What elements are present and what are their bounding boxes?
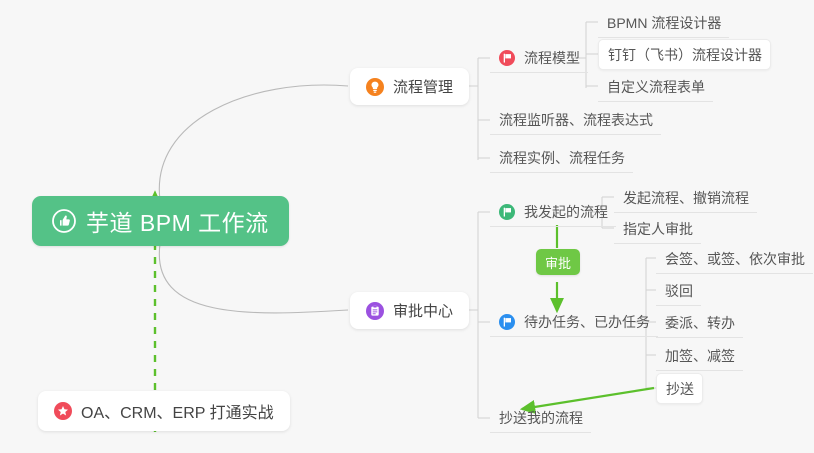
flag-icon	[499, 50, 515, 66]
flag-icon	[499, 314, 515, 330]
branch-label: 审批中心	[393, 300, 453, 321]
clipboard-icon	[366, 302, 384, 320]
node-label: 钉钉（飞书）流程设计器	[608, 45, 762, 65]
node-countersign[interactable]: 会签、或签、依次审批	[656, 244, 813, 274]
node-custom-process-form[interactable]: 自定义流程表单	[598, 72, 713, 102]
lightbulb-icon	[366, 78, 384, 96]
node-label: 自定义流程表单	[607, 77, 705, 97]
branch-approval-center[interactable]: 审批中心	[350, 292, 469, 329]
node-delegate-transfer[interactable]: 委派、转办	[656, 308, 743, 338]
node-label: 抄送	[666, 379, 694, 399]
mindmap-canvas: 芋道 BPM 工作流 流程管理 流程模型 BPMN 流程设计器 钉钉（飞书）流	[0, 0, 814, 453]
edge-root-to-process-management	[159, 85, 348, 200]
node-label: 待办任务、已办任务	[524, 312, 650, 332]
flag-icon	[499, 204, 515, 220]
edge-root-to-approval-center	[159, 244, 348, 313]
approval-pill: 审批	[536, 249, 580, 275]
node-designated-approver[interactable]: 指定人审批	[614, 214, 701, 244]
node-carbon-copy[interactable]: 抄送	[656, 373, 703, 404]
branch-label: 流程管理	[393, 76, 453, 97]
node-label: 流程模型	[524, 48, 580, 68]
node-label: 加签、减签	[665, 346, 735, 366]
node-process-listener-expression[interactable]: 流程监听器、流程表达式	[490, 105, 661, 135]
node-label: BPMN 流程设计器	[607, 13, 721, 33]
node-label: 驳回	[665, 281, 693, 301]
integration-card-label: OA、CRM、ERP 打通实战	[81, 399, 274, 423]
node-process-model[interactable]: 流程模型	[490, 43, 588, 73]
node-label: 发起流程、撤销流程	[623, 188, 749, 208]
node-todo-done-tasks[interactable]: 待办任务、已办任务	[490, 307, 658, 337]
node-dingtalk-feishu-designer[interactable]: 钉钉（飞书）流程设计器	[598, 39, 771, 70]
node-process-instance-task[interactable]: 流程实例、流程任务	[490, 143, 633, 173]
node-label: 我发起的流程	[524, 202, 608, 222]
node-label: 流程监听器、流程表达式	[499, 110, 653, 130]
node-add-remove-sign[interactable]: 加签、减签	[656, 341, 743, 371]
node-label: 抄送我的流程	[499, 408, 583, 428]
approval-pill-label: 审批	[545, 253, 571, 272]
node-label: 会签、或签、依次审批	[665, 249, 805, 269]
root-node[interactable]: 芋道 BPM 工作流	[32, 196, 289, 246]
branch-process-management[interactable]: 流程管理	[350, 68, 469, 105]
node-my-initiated-process[interactable]: 我发起的流程	[490, 197, 616, 227]
node-label: 指定人审批	[623, 219, 693, 239]
root-label: 芋道 BPM 工作流	[86, 204, 269, 238]
star-icon	[54, 402, 72, 420]
node-label: 流程实例、流程任务	[499, 148, 625, 168]
thumbs-up-icon	[52, 209, 76, 233]
node-start-cancel-process[interactable]: 发起流程、撤销流程	[614, 183, 757, 213]
node-cc-to-me-process[interactable]: 抄送我的流程	[490, 403, 591, 433]
node-label: 委派、转办	[665, 313, 735, 333]
node-reject[interactable]: 驳回	[656, 276, 701, 306]
integration-card[interactable]: OA、CRM、ERP 打通实战	[38, 391, 290, 431]
node-bpmn-designer[interactable]: BPMN 流程设计器	[598, 8, 729, 38]
